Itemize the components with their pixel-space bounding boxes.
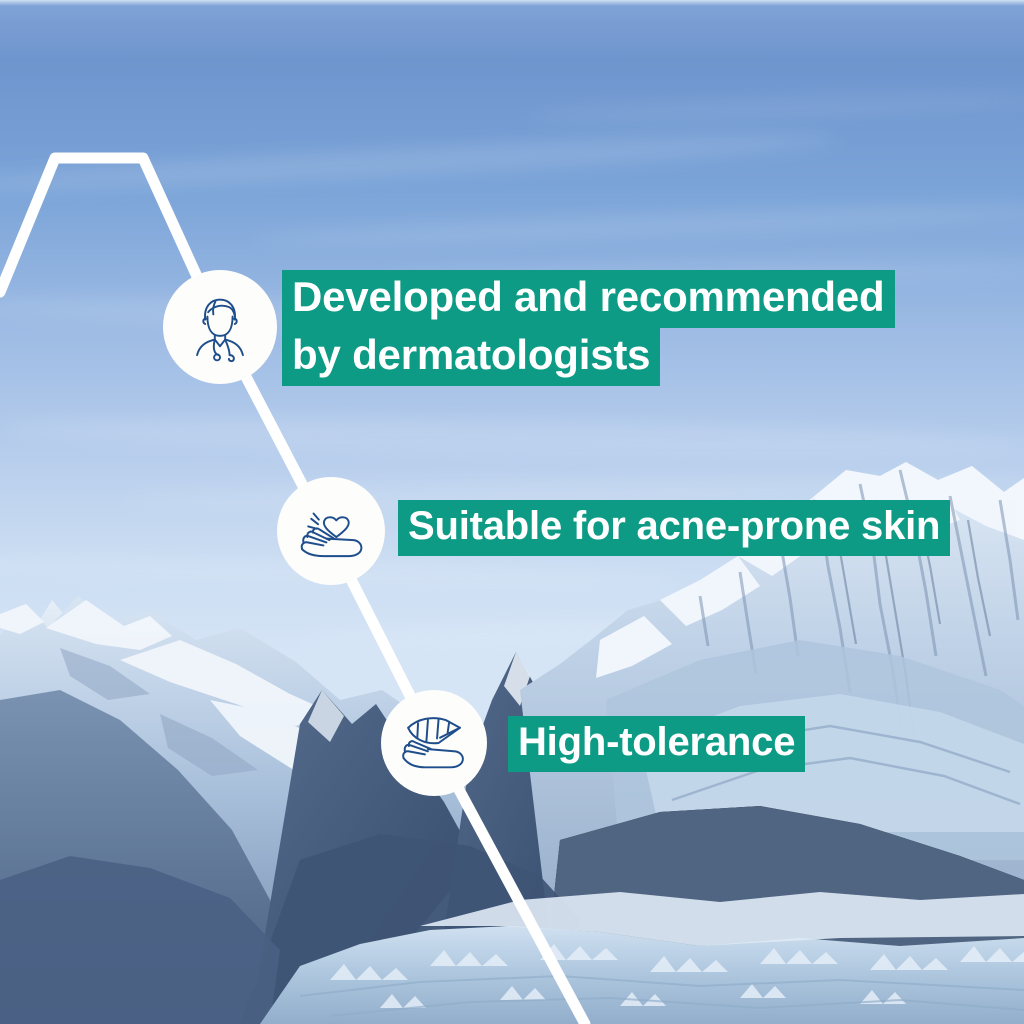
benefit-text-acne-prone: Suitable for acne-prone skin — [398, 500, 950, 556]
benefit-icon-bubble-high-tolerance[interactable] — [381, 690, 487, 796]
benefit-icon-bubble-acne-prone[interactable] — [277, 477, 385, 585]
benefit-text-line: High-tolerance — [508, 716, 805, 772]
benefit-text-high-tolerance: High-tolerance — [508, 716, 805, 772]
hand-heart-icon — [293, 493, 369, 569]
infographic-canvas: Developed and recommended by dermatologi… — [0, 0, 1024, 1024]
benefit-text-line: Suitable for acne-prone skin — [398, 500, 950, 556]
doctor-icon — [183, 290, 257, 364]
benefit-text-dermatologist: Developed and recommended by dermatologi… — [282, 270, 895, 386]
benefit-text-line: by dermatologists — [282, 328, 660, 386]
benefit-icon-bubble-dermatologist[interactable] — [163, 270, 277, 384]
hand-feather-icon — [396, 705, 472, 781]
benefit-text-line: Developed and recommended — [282, 270, 895, 328]
